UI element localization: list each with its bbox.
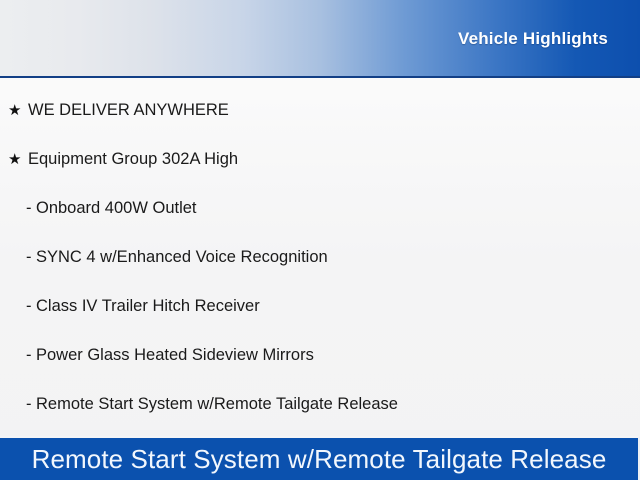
dash-icon: - — [26, 199, 36, 218]
vehicle-highlights-slide: Vehicle Highlights ★ WE DELIVER ANYWHERE… — [0, 0, 640, 480]
dash-icon: - — [26, 346, 36, 365]
list-item: ★ WE DELIVER ANYWHERE — [0, 86, 640, 135]
list-item-label: Remote Start System w/Remote Tailgate Re… — [36, 395, 398, 414]
list-item-label: Class IV Trailer Hitch Receiver — [36, 297, 260, 316]
dash-icon: - — [26, 395, 36, 414]
list-item-label: SYNC 4 w/Enhanced Voice Recognition — [36, 248, 328, 267]
list-item-label: Equipment Group 302A High — [28, 150, 238, 169]
dash-icon: - — [26, 297, 36, 316]
header-banner: Vehicle Highlights — [0, 0, 640, 78]
highlights-list: ★ WE DELIVER ANYWHERE ★ Equipment Group … — [0, 86, 640, 429]
star-icon: ★ — [8, 152, 28, 167]
page-title: Vehicle Highlights — [458, 29, 608, 49]
list-item: - Power Glass Heated Sideview Mirrors — [0, 331, 640, 380]
footer-caption-bar: Remote Start System w/Remote Tailgate Re… — [0, 436, 640, 480]
list-item: - SYNC 4 w/Enhanced Voice Recognition — [0, 233, 640, 282]
footer-caption-text: Remote Start System w/Remote Tailgate Re… — [32, 444, 607, 475]
dash-icon: - — [26, 248, 36, 267]
list-item: ★ Equipment Group 302A High — [0, 135, 640, 184]
list-item: - Onboard 400W Outlet — [0, 184, 640, 233]
list-item-label: Power Glass Heated Sideview Mirrors — [36, 346, 314, 365]
list-item-label: Onboard 400W Outlet — [36, 199, 197, 218]
list-item-label: WE DELIVER ANYWHERE — [28, 101, 229, 120]
list-item: - Remote Start System w/Remote Tailgate … — [0, 380, 640, 429]
star-icon: ★ — [8, 103, 28, 118]
list-item: - Class IV Trailer Hitch Receiver — [0, 282, 640, 331]
